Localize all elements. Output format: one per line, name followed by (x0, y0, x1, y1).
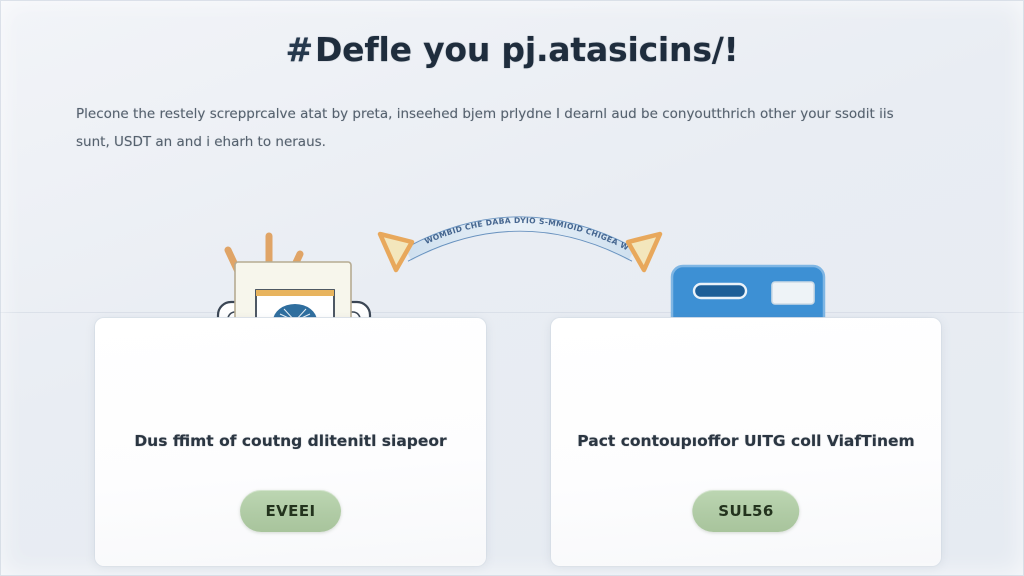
page-root: #Defle you pj.atasicins/! Plecone the re… (0, 0, 1024, 576)
card-left[interactable]: Dus ffimt of coutng dlitenitl siapeor EV… (95, 318, 486, 566)
arrow-head-right-icon (628, 234, 660, 270)
intro-paragraph: Plecone the restely screpprcalve atat by… (76, 100, 952, 156)
card-chip-icon (694, 284, 746, 298)
card-right-title: Pact contoupıoffor UITG coll ViafTinem (551, 432, 941, 450)
card-right-action-button[interactable]: SUL56 (692, 490, 799, 532)
intro-line-2: sunt, USDT an and i eharh to neraus. (76, 128, 952, 156)
card-left-title: Dus ffimt of coutng dlitenitl siapeor (95, 432, 486, 450)
card-right[interactable]: Pact contoupıoffor UITG coll ViafTinem S… (551, 318, 941, 566)
card-left-action-button[interactable]: EVEEI (240, 490, 342, 532)
hash-glyph-icon: # (286, 30, 313, 69)
horizon-divider (0, 312, 1024, 313)
page-title: #Defle you pj.atasicins/! (0, 30, 1024, 69)
curved-arrow-graphic: WOMBID CHE DABA DYIO S-MMIOID CHIGEA WOS… (370, 192, 670, 284)
page-title-text: Defle you pj.atasicins/! (315, 30, 739, 69)
card-logo (772, 282, 814, 304)
intro-line-1: Plecone the restely screpprcalve atat by… (76, 106, 894, 122)
